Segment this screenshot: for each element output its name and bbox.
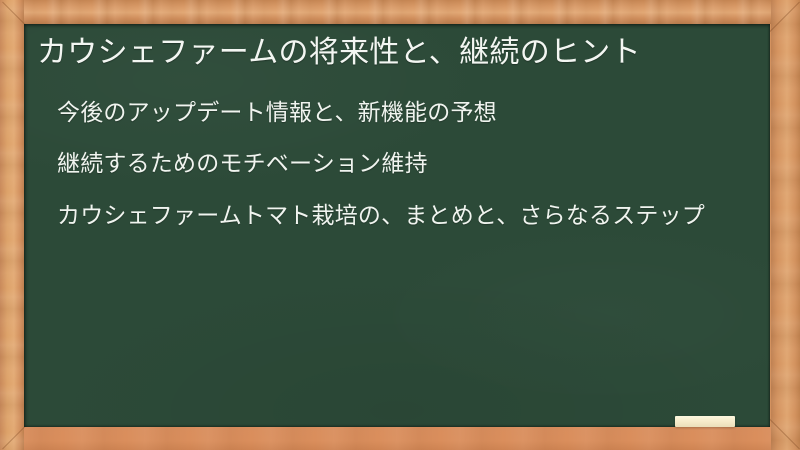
list-item: 継続するためのモチベーション維持 [57,148,717,179]
blackboard-surface: カウシェファームの将来性と、継続のヒント 今後のアップデート情報と、新機能の予想… [24,24,770,427]
frame-rail-left [0,0,24,450]
list-item: カウシェファームトマト栽培の、まとめと、さらなるステップ [57,200,717,231]
frame-rail-top [0,0,800,24]
frame-rail-right [771,0,800,450]
list-item: 今後のアップデート情報と、新機能の予想 [57,97,717,128]
slide-content: カウシェファームの将来性と、継続のヒント 今後のアップデート情報と、新機能の予想… [24,24,770,231]
frame-rail-bottom [0,427,800,450]
slide-bullet-list: 今後のアップデート情報と、新機能の予想 継続するためのモチベーション維持 カウシ… [37,97,752,231]
presentation-slide: カウシェファームの将来性と、継続のヒント 今後のアップデート情報と、新機能の予想… [0,0,800,450]
chalk-stick-icon [675,416,735,427]
slide-title: カウシェファームの将来性と、継続のヒント [37,33,727,73]
